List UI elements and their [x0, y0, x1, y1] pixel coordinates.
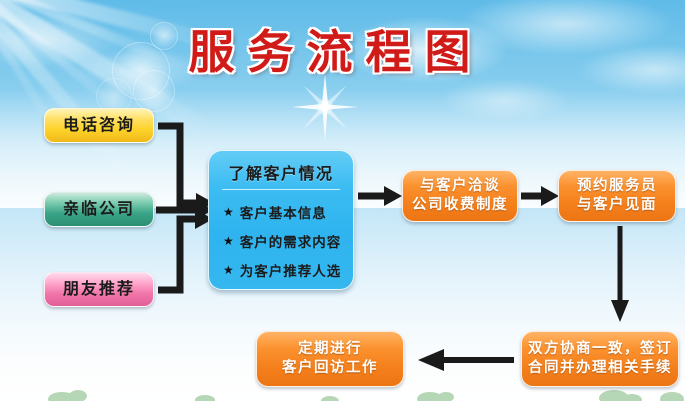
- hub-item-label: 客户的需求内容: [240, 231, 342, 251]
- hub-item-label: 客户基本信息: [240, 202, 327, 222]
- service-process-poster: 服务流程图 电话咨询 亲临公司 朋友推荐: [0, 0, 685, 401]
- node-sign-contract[interactable]: 双方协商一致，签订 合同并办理相关手续: [521, 331, 679, 387]
- hub-item-label: 为客户推荐人选: [240, 260, 342, 280]
- hub-title: 了解客户情况: [222, 160, 340, 190]
- node-label-line1: 定期进行: [298, 340, 362, 359]
- sun-ray: [0, 0, 249, 6]
- node-label-line2: 公司收费制度: [412, 196, 508, 215]
- node-label: 朋友推荐: [63, 279, 135, 299]
- node-customer-followup[interactable]: 定期进行 客户回访工作: [256, 331, 404, 387]
- node-label-line2: 合同并办理相关手续: [528, 359, 672, 378]
- node-label-line2: 客户回访工作: [282, 359, 378, 378]
- node-label-line1: 与客户洽谈: [420, 177, 500, 196]
- node-friend-referral[interactable]: 朋友推荐: [44, 272, 154, 307]
- star-icon: ★: [223, 264, 235, 276]
- hub-item: ★ 为客户推荐人选: [217, 260, 345, 280]
- connector-phone-to-hub: [158, 126, 214, 213]
- hub-item: ★ 客户基本信息: [217, 202, 345, 222]
- poster-title-container: 服务流程图: [0, 16, 685, 82]
- connector-friend-to-hub: [158, 209, 213, 290]
- node-label-line1: 预约服务员: [577, 177, 657, 196]
- node-appoint-staff[interactable]: 预约服务员 与客户见面: [558, 170, 676, 222]
- node-visit-company[interactable]: 亲临公司: [44, 192, 154, 227]
- poster-title: 服务流程图: [189, 16, 497, 82]
- hub-item: ★ 客户的需求内容: [217, 231, 345, 251]
- star-icon: ★: [223, 206, 235, 218]
- node-label-line2: 与客户见面: [577, 196, 657, 215]
- connector-contract-to-followup: [418, 348, 514, 372]
- node-negotiate-fees[interactable]: 与客户洽谈 公司收费制度: [402, 170, 518, 222]
- node-label: 电话咨询: [63, 115, 135, 135]
- node-phone-consult[interactable]: 电话咨询: [44, 108, 154, 143]
- star-icon: ★: [223, 235, 235, 247]
- connector-hub-to-negotiate: [358, 184, 402, 208]
- connector-sources-to-hub: [150, 100, 214, 315]
- node-understand-customer[interactable]: 了解客户情况 ★ 客户基本信息 ★ 客户的需求内容 ★ 为客户推荐人选: [208, 150, 354, 290]
- sparkle-icon: [290, 72, 360, 142]
- node-label-line1: 双方协商一致，签订: [528, 340, 672, 359]
- node-label: 亲临公司: [63, 199, 135, 219]
- connector-negotiate-to-appoint: [521, 184, 559, 208]
- connector-appoint-to-contract: [607, 226, 633, 326]
